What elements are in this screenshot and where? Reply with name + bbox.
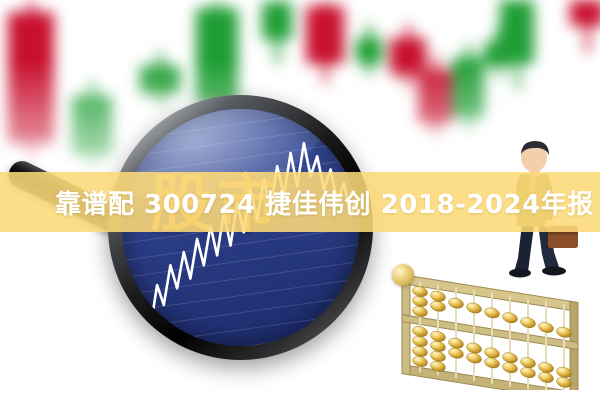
abacus-knob — [392, 264, 414, 286]
candle-body — [500, 0, 534, 64]
caption-text: 靠谱配 300724 捷佳伟创 2018-2024年报 — [0, 172, 600, 232]
promotional-image: 股市 靠谱配 300724 捷佳伟创 2018-2024年报 — [0, 0, 600, 400]
shoe-back — [509, 269, 531, 278]
candle-body — [262, 2, 292, 40]
candle-body — [570, 0, 600, 26]
shoe-front — [542, 267, 566, 276]
abacus-graphic — [398, 272, 588, 390]
abacus — [398, 272, 588, 390]
briefcase-strap — [548, 232, 578, 235]
candle-body — [306, 6, 344, 64]
